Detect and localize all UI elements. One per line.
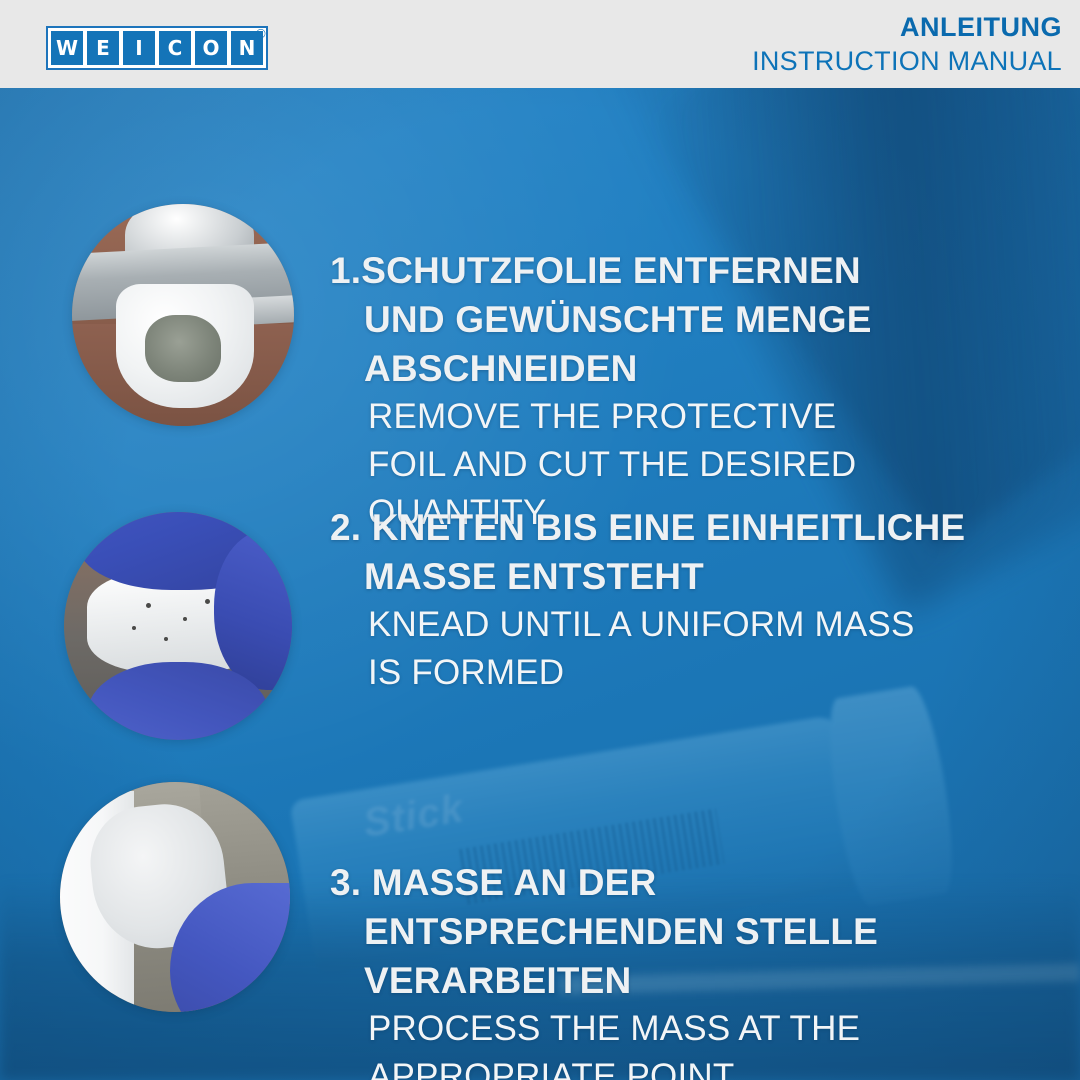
step-3-de-line: 3. MASSE AN DER bbox=[330, 858, 878, 907]
photo-speck bbox=[183, 617, 187, 621]
page-header: W E I C O N ® ANLEITUNG INSTRUCTION MANU… bbox=[0, 0, 1080, 88]
step-2-de-line: MASSE ENTSTEHT bbox=[330, 552, 965, 601]
infographic-page: W E I C O N ® ANLEITUNG INSTRUCTION MANU… bbox=[0, 0, 1080, 1080]
step-3-image bbox=[60, 782, 290, 1012]
step-3-en-line: PROCESS THE MASS AT THE bbox=[330, 1005, 878, 1053]
steps-list: 1.SCHUTZFOLIE ENTFERNEN UND GEWÜNSCHTE M… bbox=[0, 88, 1080, 1080]
step-1-de-line: UND GEWÜNSCHTE MENGE bbox=[330, 295, 872, 344]
step-2-en-line: KNEAD UNTIL A UNIFORM MASS bbox=[330, 601, 965, 649]
weicon-logo: W E I C O N bbox=[46, 26, 268, 70]
logo-letter-box: W bbox=[51, 31, 83, 65]
logo-letter-box: C bbox=[159, 31, 191, 65]
header-title-de: ANLEITUNG bbox=[752, 14, 1062, 41]
step-2-image bbox=[64, 512, 292, 740]
logo-letter-box: E bbox=[87, 31, 119, 65]
step-1-image bbox=[72, 204, 294, 426]
step-2-en-line: IS FORMED bbox=[330, 649, 965, 697]
step-3-de-line: ENTSPRECHENDEN STELLE bbox=[330, 907, 878, 956]
step-1-en-line: REMOVE THE PROTECTIVE bbox=[330, 393, 872, 441]
photo-putty-core bbox=[145, 315, 220, 382]
step-1-en-line: FOIL AND CUT THE DESIRED bbox=[330, 441, 872, 489]
step-2-de-line: 2. KNETEN BIS EINE EINHEITLICHE bbox=[330, 503, 965, 552]
header-title-block: ANLEITUNG INSTRUCTION MANUAL bbox=[752, 14, 1062, 75]
logo-letter-box: O bbox=[195, 31, 227, 65]
step-1-de-line: 1.SCHUTZFOLIE ENTFERNEN bbox=[330, 246, 872, 295]
step-1-de-line: ABSCHNEIDEN bbox=[330, 344, 872, 393]
step-3-de-line: VERARBEITEN bbox=[330, 956, 878, 1005]
step-2-text: 2. KNETEN BIS EINE EINHEITLICHE MASSE EN… bbox=[330, 503, 965, 697]
main-stage: Stick 1.SCHUTZFOLIE ENTFERNEN UND bbox=[0, 88, 1080, 1080]
step-3-en-line: APPROPRIATE POINT bbox=[330, 1053, 878, 1080]
step-3-text: 3. MASSE AN DER ENTSPRECHENDEN STELLE VE… bbox=[330, 858, 878, 1080]
header-title-en: INSTRUCTION MANUAL bbox=[752, 48, 1062, 75]
logo-letter-box: I bbox=[123, 31, 155, 65]
registered-trademark-icon: ® bbox=[256, 26, 266, 41]
step-1-text: 1.SCHUTZFOLIE ENTFERNEN UND GEWÜNSCHTE M… bbox=[330, 246, 872, 537]
